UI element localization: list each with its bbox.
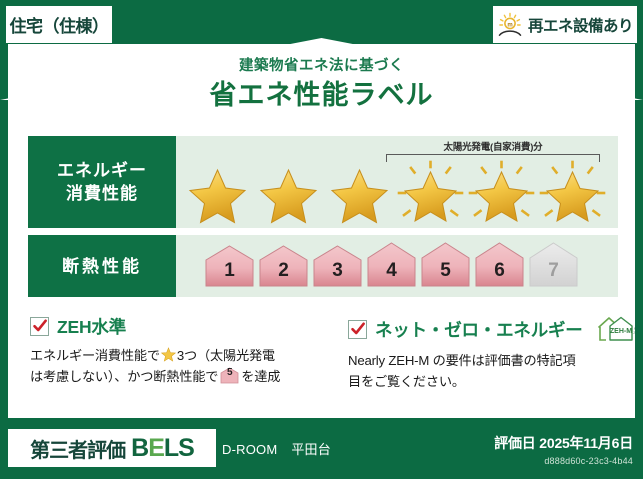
page-title: 省エネ性能ラベル (8, 78, 635, 112)
insulation-level-5: 5 (418, 242, 473, 290)
label-card: 建築物省エネ法に基づく 省エネ性能ラベル エネルギー 消費性能 太陽光発電(自家… (8, 44, 635, 418)
inline-house-badge: 5 (220, 367, 239, 384)
net-zero-checkbox[interactable] (348, 320, 367, 339)
project-area: 平田台 (291, 442, 331, 457)
bels-logo: 第三者評価 BELS (8, 429, 216, 467)
project-info: D-ROOM平田台 (222, 439, 331, 458)
insulation-level-2: 2 (256, 242, 311, 290)
evaluation-date-line: 評価日 2025年11月6日 (494, 433, 633, 453)
insulation-level-number: 6 (472, 242, 527, 290)
zeh-standard-heading: ZEH水準 (57, 314, 126, 339)
energy-star-group (176, 160, 618, 226)
zeh-body-star-count: 3つ（太陽光発電 (177, 348, 275, 363)
insulation-level-number: 2 (256, 242, 311, 290)
criteria-columns: ZEH水準 エネルギー消費性能で3つ（太陽光発電 は考慮しない）、かつ断熱性能で… (30, 314, 622, 392)
zeh-m-logo: ZEH-M Nearly ZEH-M (594, 314, 635, 344)
performance-rows: エネルギー 消費性能 太陽光発電(自家消費)分 (28, 136, 618, 304)
insulation-level-number: 5 (418, 242, 473, 290)
star-plain (182, 160, 253, 226)
insulation-level-1: 1 (202, 242, 257, 290)
check-icon (350, 321, 366, 337)
zeh-body-part3: を達成 (241, 369, 280, 384)
zeh-standard-block: ZEH水準 エネルギー消費性能で3つ（太陽光発電 は考慮しない）、かつ断熱性能で… (30, 314, 326, 392)
zeh-standard-heading-row: ZEH水準 (30, 314, 326, 339)
insulation-level-4: 4 (364, 242, 419, 290)
energy-label-line2: 消費性能 (66, 182, 138, 205)
star-solar (466, 160, 537, 226)
renewable-equipment-label: 再エネ設備あり (528, 14, 633, 36)
net-zero-body: Nearly ZEH-M の要件は評価書の特記項 目をご覧ください。 (348, 350, 622, 392)
title-block: 建築物省エネ法に基づく 省エネ性能ラベル (8, 56, 635, 112)
document-id: d888d60c-23c3-4b44 (494, 456, 633, 466)
insulation-level-number: 3 (310, 242, 365, 290)
renewable-equipment-tag: m 再エネ設備あり (493, 6, 637, 43)
insulation-rating-area: 1 2 3 (176, 235, 618, 297)
building-type-label: 住宅（住棟） (10, 12, 109, 37)
star-plain (324, 160, 395, 226)
star-solar (537, 160, 608, 226)
insulation-label: 断熱性能 (62, 255, 142, 278)
sun-icon: m (497, 12, 523, 38)
insulation-level-number: 7 (526, 242, 581, 290)
svg-text:m: m (507, 22, 512, 28)
evaluation-date-label: 評価日 (494, 435, 535, 451)
net-zero-body-line2: 目をご覧ください。 (348, 374, 465, 389)
insulation-level-3: 3 (310, 242, 365, 290)
insulation-level-number: 1 (202, 242, 257, 290)
zeh-standard-body: エネルギー消費性能で3つ（太陽光発電 は考慮しない）、かつ断熱性能で5を達成 (30, 345, 326, 387)
footer-band: 第三者評価 BELS D-ROOM平田台 評価日 2025年11月6日 d888… (0, 424, 643, 479)
bels-letter-b: B (131, 434, 148, 462)
bels-letter-e: E (148, 434, 164, 462)
net-zero-heading-row: ネット・ゼロ・エネルギー ZEH-M Nearly ZEH-M (348, 314, 622, 344)
bels-en-label: BELS (131, 434, 194, 463)
net-zero-heading: ネット・ゼロ・エネルギー (375, 317, 583, 342)
insulation-level-7: 7 (526, 242, 581, 290)
energy-label-line1: エネルギー (57, 159, 147, 182)
inline-star-icon (161, 347, 176, 362)
zeh-standard-checkbox[interactable] (30, 317, 49, 336)
insulation-performance-label-box: 断熱性能 (28, 235, 176, 297)
title-subtitle: 建築物省エネ法に基づく (8, 56, 635, 76)
project-name: D-ROOM (222, 442, 277, 457)
evaluation-date-value: 2025年11月6日 (539, 435, 633, 451)
svg-text:ZEH-M: ZEH-M (610, 328, 632, 335)
bels-jp-label: 第三者評価 (30, 434, 125, 463)
inline-house-number: 5 (220, 367, 239, 384)
bels-letters-ls: LS (164, 434, 194, 462)
energy-performance-row: エネルギー 消費性能 太陽光発電(自家消費)分 (28, 136, 618, 228)
star-plain (253, 160, 324, 226)
insulation-level-group: 1 2 3 (176, 235, 618, 297)
check-icon (32, 318, 48, 334)
svg-text:ZEH-M: ZEH-M (633, 331, 635, 335)
solar-bracket-caption: 太陽光発電(自家消費)分 (384, 139, 602, 153)
net-zero-block: ネット・ゼロ・エネルギー ZEH-M Nearly ZEH-M Nearl (326, 314, 622, 392)
net-zero-body-line1: Nearly ZEH-M の要件は評価書の特記項 (348, 353, 575, 368)
evaluation-date-block: 評価日 2025年11月6日 d888d60c-23c3-4b44 (494, 433, 633, 466)
insulation-performance-row: 断熱性能 1 (28, 235, 618, 297)
energy-performance-label-box: エネルギー 消費性能 (28, 136, 176, 228)
zeh-body-part1: エネルギー消費性能で (30, 348, 160, 363)
energy-rating-area: 太陽光発電(自家消費)分 (176, 136, 618, 228)
zeh-body-part2: は考慮しない）、かつ断熱性能で (30, 369, 218, 384)
insulation-level-number: 4 (364, 242, 419, 290)
building-type-tag: 住宅（住棟） (6, 6, 112, 43)
energy-performance-label: 住宅（住棟） m 再エネ設備あり 建築物省エネ法に基づく 省エネ性能ラベル (0, 0, 643, 479)
star-solar (395, 160, 466, 226)
insulation-level-6: 6 (472, 242, 527, 290)
